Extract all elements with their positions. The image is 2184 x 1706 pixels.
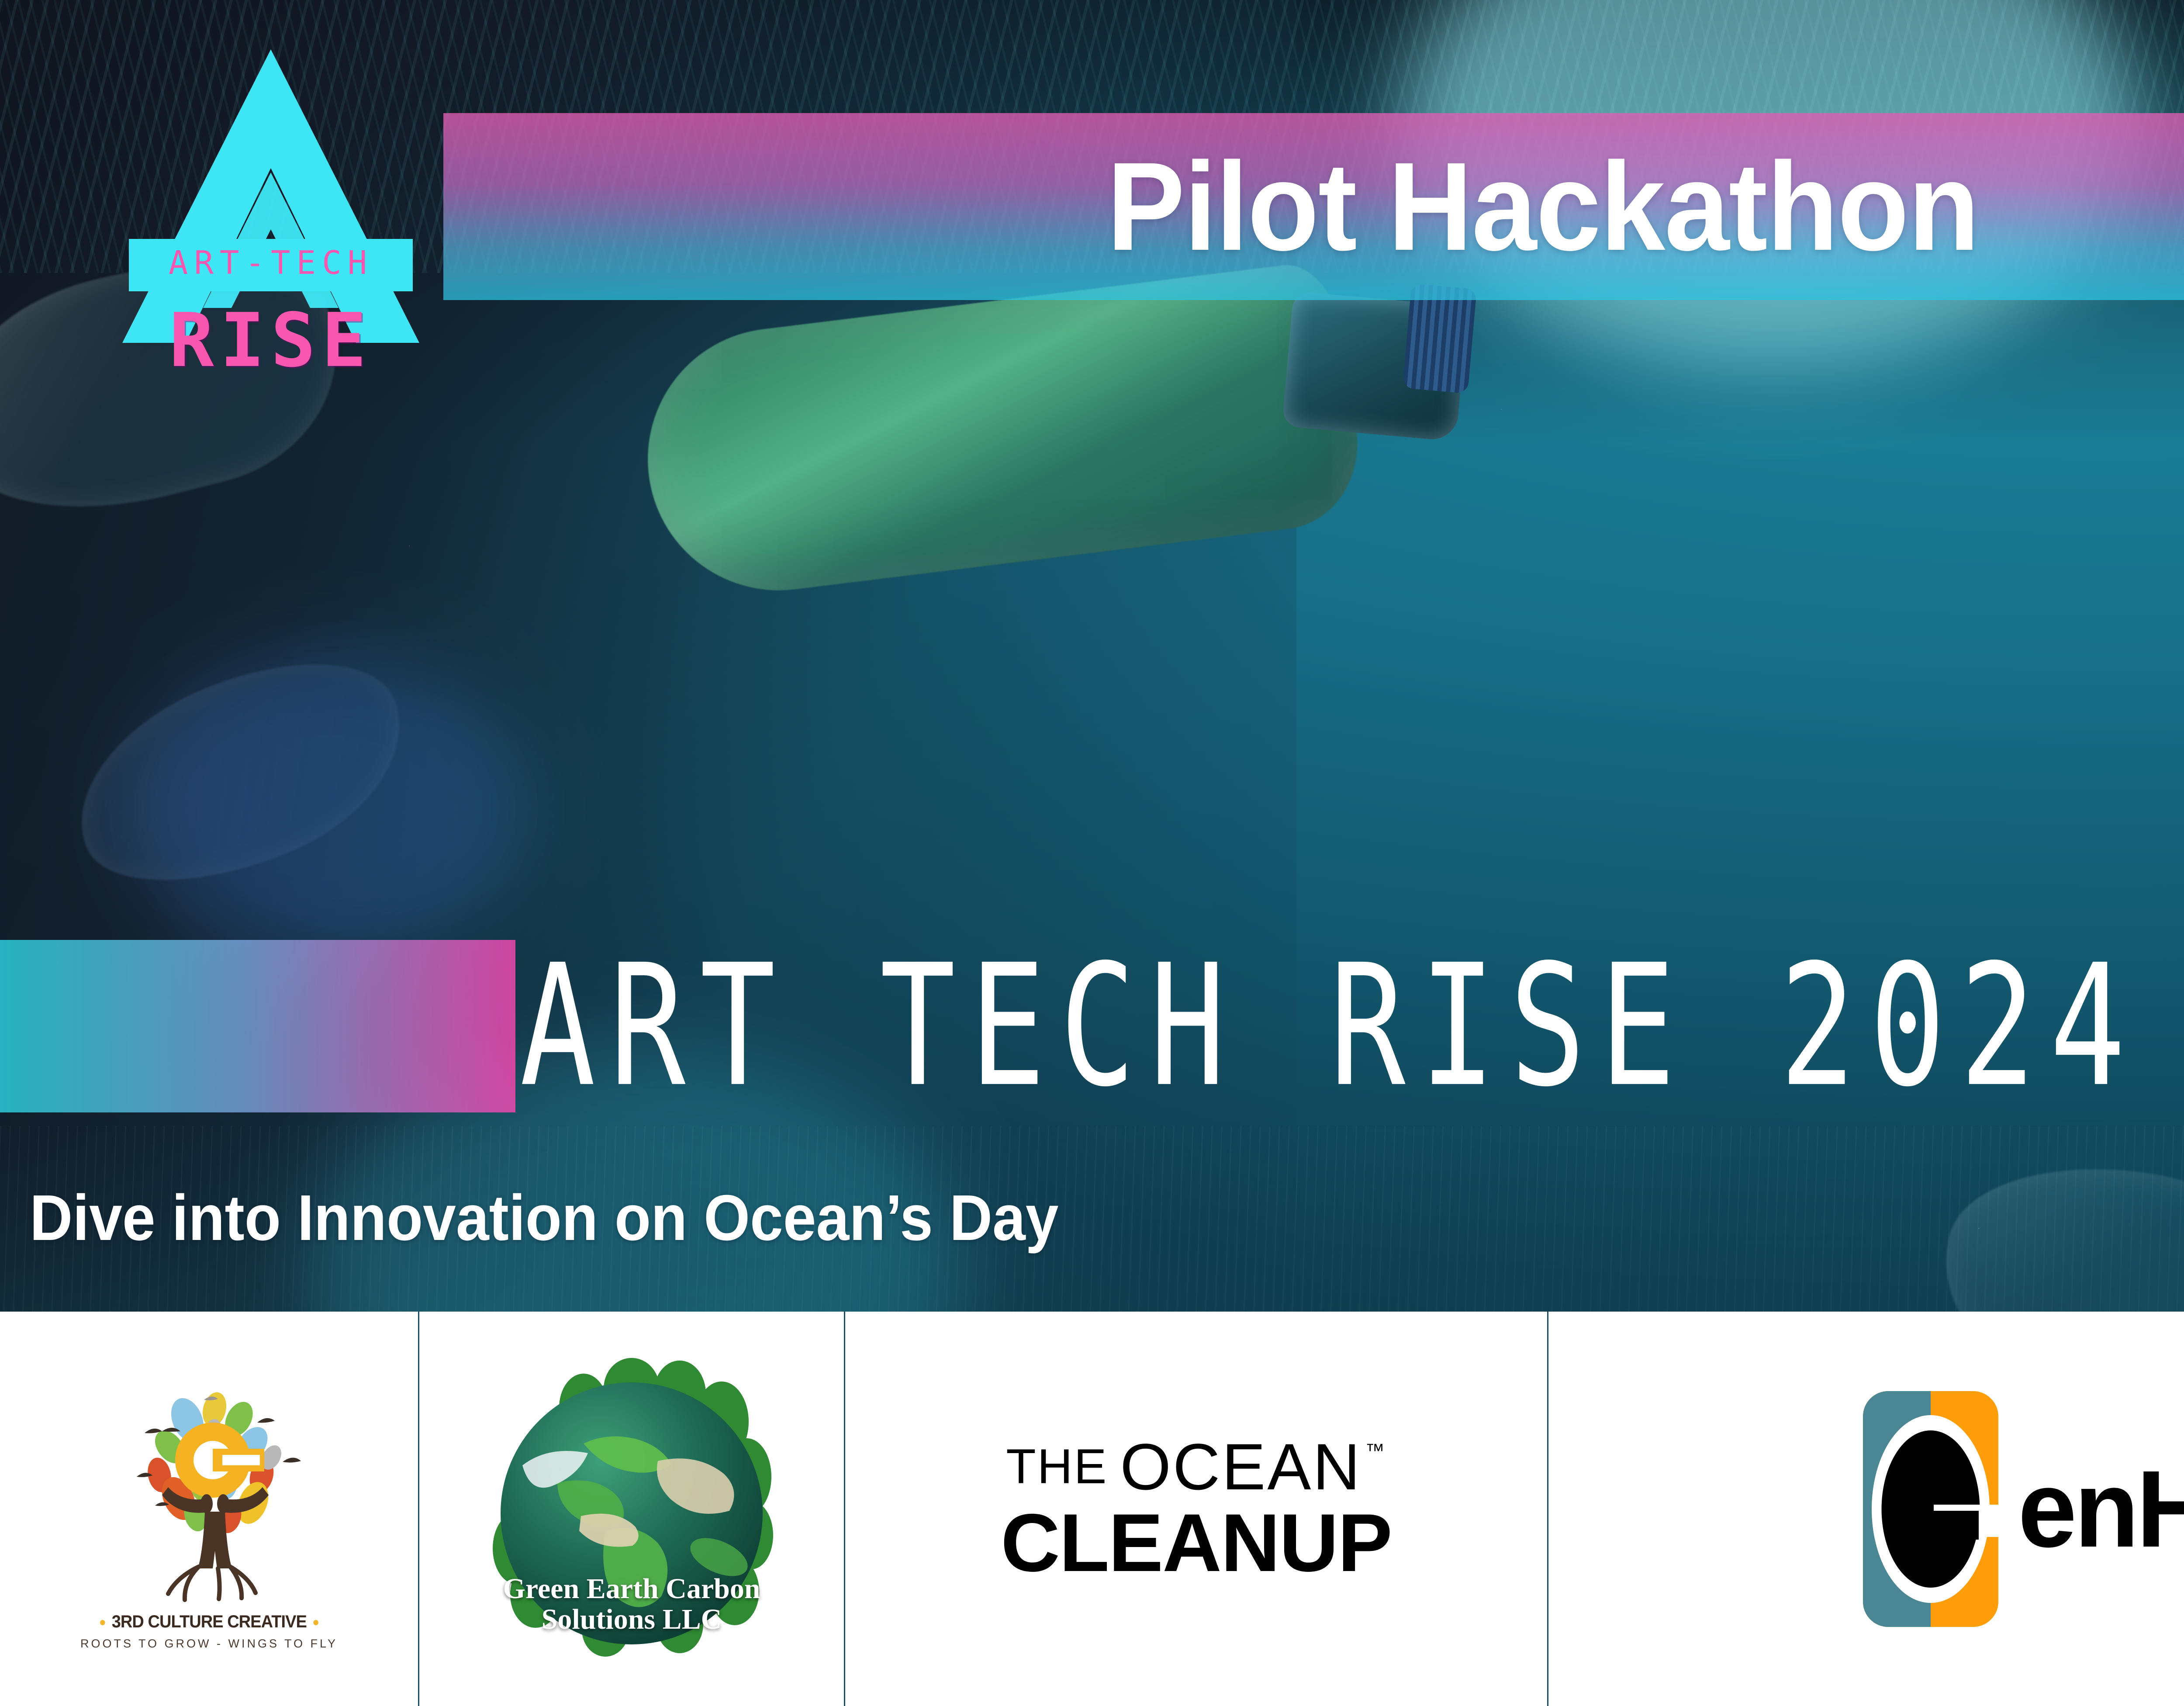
logo-wordmark-bottom: RISE [111,304,430,378]
sponsor-green-earth-carbon-solutions[interactable]: Green Earth Carbon Solutions LLC [419,1312,845,1706]
logo-wordmark-top: ART-TECH [169,244,373,282]
genhax-g-mark-icon [1863,1391,1998,1627]
light-glow-4 [131,655,524,961]
sponsor-bar: 3RD CULTURE CREATIVE ROOTS TO GROW - WIN… [0,1312,2184,1706]
sponsor-tagline: ROOTS TO GROW - WINGS TO FLY [80,1637,338,1651]
sponsor-the-ocean-cleanup[interactable]: THEOCEAN™ CLEANUP [845,1312,1548,1706]
headline-text: Pilot Hackathon [1107,144,1979,269]
tree-logo: 3RD CULTURE CREATIVE ROOTS TO GROW - WIN… [87,1330,332,1688]
word-ocean: OCEAN [1120,1436,1362,1498]
sponsor-3rd-culture-creative[interactable]: 3RD CULTURE CREATIVE ROOTS TO GROW - WIN… [0,1312,419,1706]
bullet-dot [313,1620,318,1625]
genhax-logo: enHax [1863,1391,2184,1627]
mark-g-bar [1931,1511,1979,1540]
trademark-icon: ™ [1365,1442,1386,1460]
sponsor-genhax[interactable]: enHax [1548,1312,2184,1706]
tagline-text: Dive into Innovation on Ocean’s Day [30,1186,1058,1250]
art-tech-rise-logo[interactable]: ART-TECH RISE [111,41,430,395]
word-the: THE [1006,1444,1108,1490]
pilot-hackathon-banner: Pilot Hackathon [443,113,2184,300]
ocean-cleanup-wordmark: THEOCEAN™ CLEANUP [1001,1436,1392,1582]
tree-icon [113,1368,305,1612]
bullet-dot [100,1620,105,1625]
event-banner-poster: ART-TECH RISE Pilot Hackathon ART TECH R… [0,0,2184,1706]
bottle-body [633,259,1367,605]
event-title-row: ART TECH RISE 2024 [520,932,2184,1120]
gradient-block-left [0,940,515,1112]
genhax-wordmark: enHax [2018,1454,2184,1564]
sponsor-name: Green Earth Carbon Solutions LLC [457,1574,806,1635]
earth-logo: Green Earth Carbon Solutions LLC [457,1334,806,1684]
sponsor-name: 3RD CULTURE CREATIVE [93,1612,325,1632]
event-title-text: ART TECH RISE 2024 [520,943,2140,1110]
word-cleanup: CLEANUP [1001,1504,1392,1582]
ocean-cleanup-top-line: THEOCEAN™ [1006,1436,1386,1498]
